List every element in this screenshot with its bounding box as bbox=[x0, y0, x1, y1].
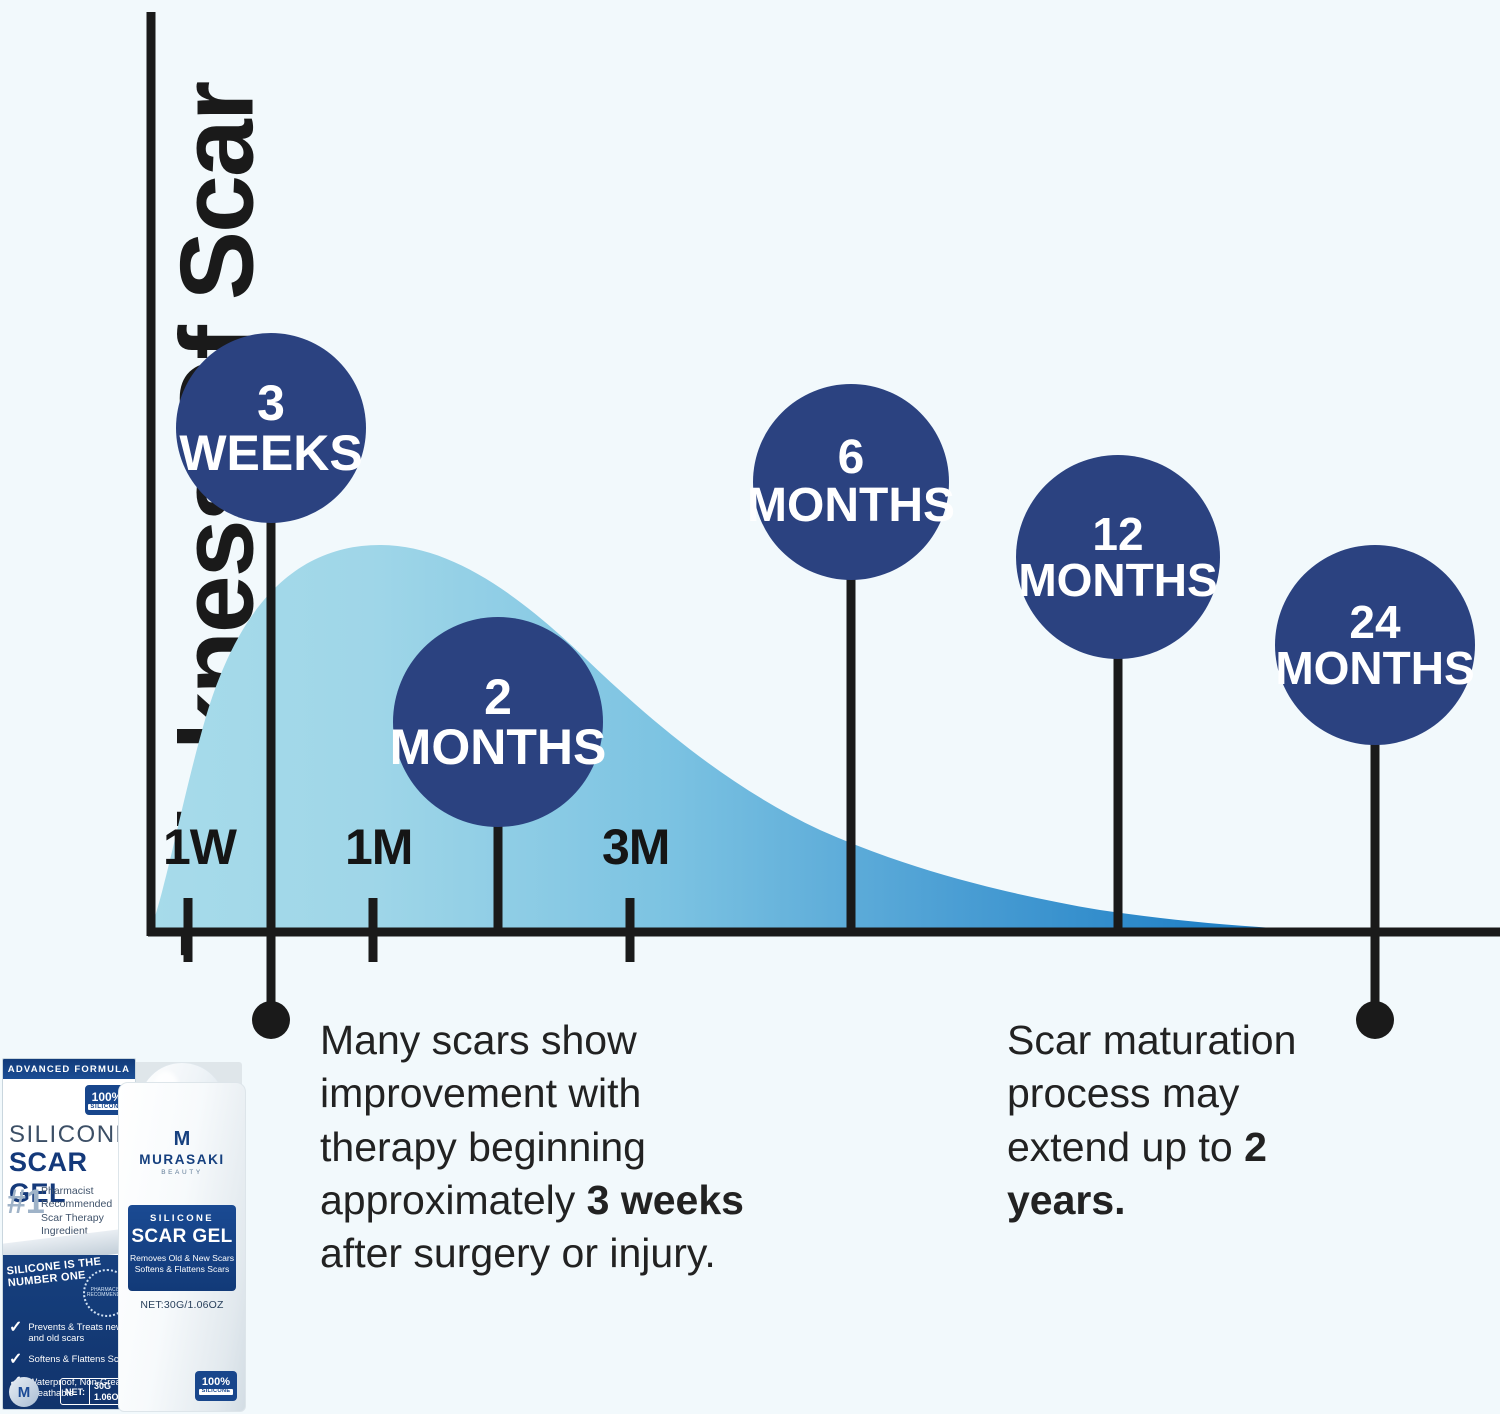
milestone-badge-24-months[interactable]: 24MONTHS bbox=[1275, 545, 1475, 745]
bottle-claim-1: Removes Old & New Scars bbox=[130, 1253, 234, 1263]
carton-brand-mark-icon: M bbox=[9, 1377, 39, 1407]
bottle-silicone-seal: 100% SILICONE bbox=[195, 1371, 237, 1401]
bottle-brand-name: MURASAKI bbox=[119, 1152, 245, 1167]
note-right: Scar maturation process may extend up to… bbox=[1007, 1014, 1347, 1227]
bottle-seal-word: SILICONE bbox=[199, 1389, 233, 1395]
milestone-dot-24-months bbox=[1356, 1001, 1394, 1039]
x-tick-label-3m: 3M bbox=[602, 818, 669, 876]
product-bottle: M MURASAKI BEAUTY SILICONE SCAR GEL Remo… bbox=[118, 1082, 246, 1412]
milestone-unit-6-months: MONTHS bbox=[747, 482, 955, 530]
milestone-unit-3-weeks: WEEKS bbox=[179, 428, 362, 478]
milestone-badge-6-months[interactable]: 6MONTHS bbox=[753, 384, 949, 580]
note-left-after: after surgery or injury. bbox=[320, 1230, 716, 1276]
milestone-number-6-months: 6 bbox=[838, 434, 865, 482]
carton-bullet: ✓ Prevents & Treats new and old scars bbox=[9, 1321, 133, 1344]
bottle-label-scargel: SCAR GEL bbox=[128, 1226, 236, 1248]
check-icon: ✓ bbox=[9, 1353, 22, 1367]
milestone-badge-2-months[interactable]: 2MONTHS bbox=[393, 617, 603, 827]
milestone-unit-12-months: MONTHS bbox=[1018, 557, 1217, 603]
x-tick-label-1w: 1W bbox=[163, 818, 236, 876]
carton-banner: ADVANCED FORMULA bbox=[3, 1059, 135, 1079]
infographic-canvas: Thickness Of Scar 1W bbox=[0, 0, 1500, 1414]
note-left-bold: 3 weeks bbox=[587, 1177, 744, 1223]
carton-net-weight: 30G bbox=[94, 1381, 111, 1391]
milestone-number-12-months: 12 bbox=[1092, 511, 1143, 557]
note-left: Many scars show improvement with therapy… bbox=[320, 1014, 770, 1280]
bottle-seal-percent: 100% bbox=[202, 1377, 230, 1388]
carton-net-label: NET: bbox=[61, 1379, 89, 1404]
bottle-claim-2: Softens & Flattens Scars bbox=[135, 1264, 230, 1274]
milestone-number-24-months: 24 bbox=[1349, 599, 1400, 645]
milestone-number-3-weeks: 3 bbox=[257, 378, 285, 428]
bottle-label-silicone: SILICONE bbox=[128, 1213, 236, 1224]
carton-lower-panel: SILICONE IS THE NUMBER ONE PHARMACIST RE… bbox=[3, 1255, 135, 1410]
carton-title-silicone: SILICONE bbox=[9, 1121, 133, 1149]
milestone-dot-3-weeks bbox=[252, 1001, 290, 1039]
product-image: ADVANCED FORMULA 100% SILICONE SILICONE … bbox=[0, 1040, 262, 1414]
bottle-label-panel: SILICONE SCAR GEL Removes Old & New Scar… bbox=[128, 1205, 236, 1291]
bottle-label-claims: Removes Old & New Scars Softens & Flatte… bbox=[128, 1253, 236, 1274]
milestone-badge-12-months[interactable]: 12MONTHS bbox=[1016, 455, 1220, 659]
carton-bullet: ✓ Softens & Flattens Scars bbox=[9, 1353, 133, 1367]
x-tick-label-1m: 1M bbox=[345, 818, 412, 876]
bottle-brand-mark-icon: M bbox=[119, 1129, 245, 1149]
bottle-net-text: NET:30G/1.06OZ bbox=[119, 1299, 245, 1311]
milestone-badge-3-weeks[interactable]: 3WEEKS bbox=[176, 333, 366, 523]
bottle-brand-sub: BEAUTY bbox=[119, 1169, 245, 1176]
carton-bullet-text: Softens & Flattens Scars bbox=[28, 1353, 131, 1364]
milestone-number-2-months: 2 bbox=[484, 672, 512, 722]
product-carton: ADVANCED FORMULA 100% SILICONE SILICONE … bbox=[2, 1058, 136, 1410]
milestone-unit-2-months: MONTHS bbox=[390, 722, 607, 772]
check-icon: ✓ bbox=[9, 1321, 22, 1335]
milestone-unit-24-months: MONTHS bbox=[1275, 645, 1474, 691]
bottle-brand-block: M MURASAKI BEAUTY bbox=[119, 1129, 245, 1176]
carton-rank: #1 bbox=[7, 1185, 45, 1219]
